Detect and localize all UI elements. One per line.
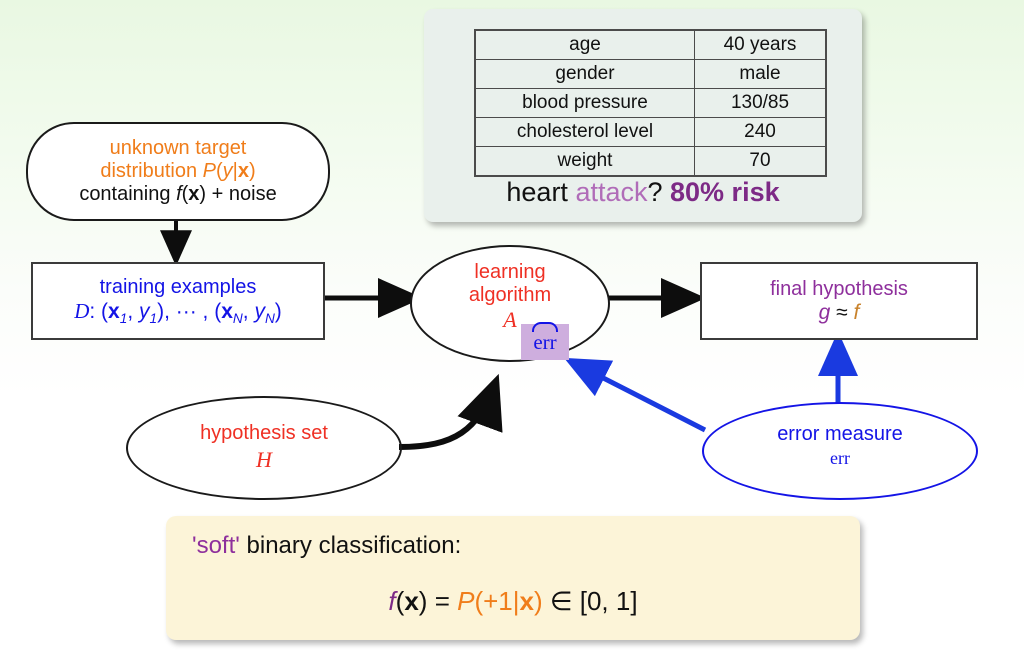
table-cell-field: age <box>475 30 695 60</box>
formula-prob: (+1| <box>474 586 519 616</box>
table-cell-field: cholesterol level <box>475 118 695 147</box>
unknown-target-line2: distribution P(y|x) <box>100 160 255 183</box>
verdict-question: ? <box>647 177 670 207</box>
hypothesis-set-label: hypothesis set <box>128 420 400 446</box>
patient-table-body: age 40 years gender male blood pressure … <box>475 30 826 176</box>
table-cell-field: gender <box>475 60 695 89</box>
soft-classification-panel: 'soft' binary classification: f(x) = P(+… <box>166 516 860 640</box>
hypothesis-set-symbol: H <box>128 446 400 475</box>
patient-table: age 40 years gender male blood pressure … <box>474 29 827 177</box>
final-hypothesis-label: final hypothesis <box>770 278 908 301</box>
formula-f: f <box>388 586 395 616</box>
verdict-risk: 80% risk <box>670 177 780 207</box>
table-cell-value: male <box>695 60 827 89</box>
table-row: weight 70 <box>475 147 826 177</box>
table-cell-value: 40 years <box>695 30 827 60</box>
formula-eq: = <box>427 586 457 616</box>
table-row: cholesterol level 240 <box>475 118 826 147</box>
hypothesis-set-node: hypothesis set H <box>126 396 402 500</box>
soft-classification-formula: f(x) = P(+1|x) ∈ [0, 1] <box>166 586 860 617</box>
err-hat-text: err <box>533 330 556 355</box>
error-measure-text: error measure err <box>704 422 976 470</box>
err-hat-badge: err <box>521 324 569 360</box>
learning-algorithm-symbol: A <box>412 307 608 332</box>
verdict-lead: heart <box>506 177 575 207</box>
formula-x: x <box>520 586 534 616</box>
learning-algorithm-line2: algorithm <box>412 284 608 307</box>
unknown-target-distribution-node: unknown target distribution P(y|x) conta… <box>26 122 330 221</box>
patient-info-panel: age 40 years gender male blood pressure … <box>424 9 862 222</box>
verdict-attack: attack <box>575 177 647 207</box>
dataset-symbol: D <box>74 299 89 323</box>
final-hypothesis-f: f <box>854 301 860 324</box>
error-measure-label: error measure <box>704 422 976 447</box>
unknown-target-line3-rest: (x) + noise <box>182 183 277 205</box>
final-hypothesis-formula: g ≈ f <box>819 301 860 325</box>
learning-algorithm-node: learning algorithm A <box>410 245 610 362</box>
formula-arg: (x) <box>396 586 428 616</box>
training-examples-node: training examples D: (x1, y1), ··· , (xN… <box>31 262 325 340</box>
unknown-target-args: (y|x) <box>216 160 256 182</box>
unknown-target-P: P <box>203 160 216 182</box>
final-hypothesis-approx: ≈ <box>830 301 853 324</box>
learning-algorithm-text: learning algorithm A <box>412 261 608 332</box>
dataset-pairs: (x1, y1), ··· , (xN, yN) <box>101 300 282 323</box>
soft-title-rest: binary classification: <box>240 532 461 559</box>
verdict-line: heart attack? 80% risk <box>424 177 862 208</box>
error-measure-node: error measure err <box>702 402 978 500</box>
training-examples-label: training examples <box>100 276 257 299</box>
unknown-target-line1: unknown target <box>110 137 247 160</box>
table-cell-value: 240 <box>695 118 827 147</box>
hypothesis-set-text: hypothesis set H <box>128 420 400 475</box>
final-hypothesis-node: final hypothesis g ≈ f <box>700 262 978 340</box>
table-cell-field: blood pressure <box>475 89 695 118</box>
learning-algorithm-line1: learning <box>412 261 608 284</box>
error-measure-symbol: err <box>704 447 976 470</box>
training-examples-data: D: (x1, y1), ··· , (xN, yN) <box>74 299 282 326</box>
formula-in-range: ∈ [0, 1] <box>543 586 638 616</box>
table-row: age 40 years <box>475 30 826 60</box>
diagram-canvas: age 40 years gender male blood pressure … <box>0 0 1024 662</box>
arrow-hset-to-algorithm <box>399 384 495 447</box>
arrow-errmeasure-to-badge <box>572 362 705 430</box>
unknown-target-line2-prefix: distribution <box>100 160 202 182</box>
soft-classification-title: 'soft' binary classification: <box>192 532 461 560</box>
dataset-colon: : <box>89 300 101 323</box>
table-row: gender male <box>475 60 826 89</box>
formula-P: P <box>457 586 474 616</box>
table-cell-value: 130/85 <box>695 89 827 118</box>
unknown-target-line3-prefix: containing <box>79 183 176 205</box>
unknown-target-line3: containing f(x) + noise <box>79 183 276 206</box>
table-cell-value: 70 <box>695 147 827 177</box>
formula-close: ) <box>534 586 543 616</box>
final-hypothesis-g: g <box>819 301 831 324</box>
table-row: blood pressure 130/85 <box>475 89 826 118</box>
table-cell-field: weight <box>475 147 695 177</box>
soft-word: 'soft' <box>192 532 240 559</box>
